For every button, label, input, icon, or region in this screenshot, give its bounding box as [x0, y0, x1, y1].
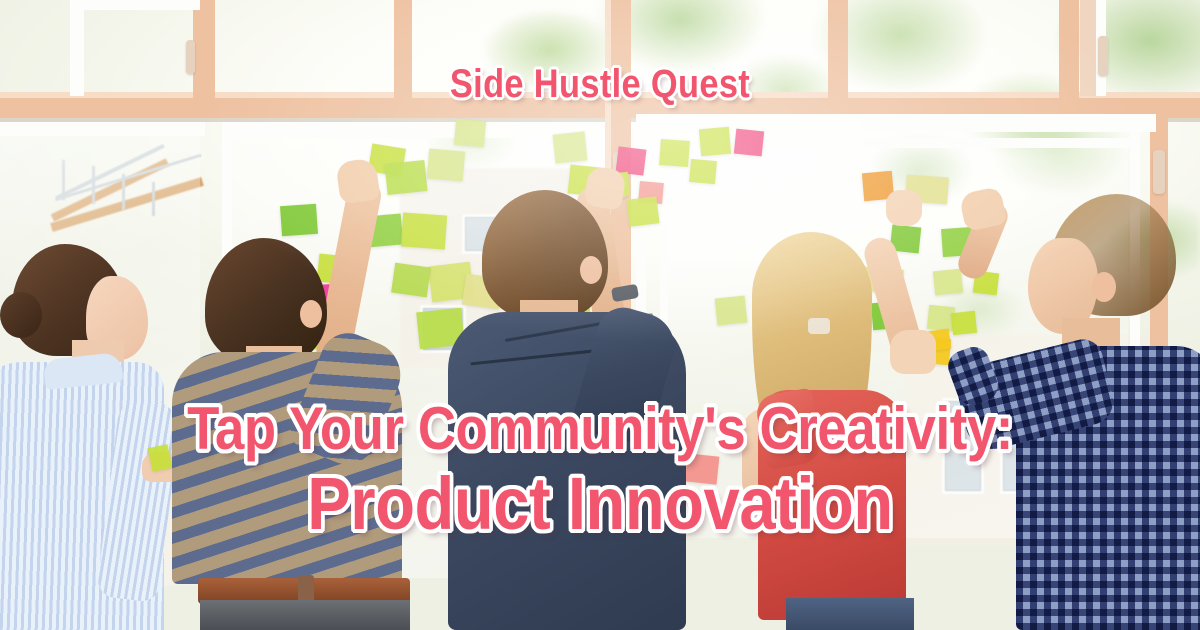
hair-bun [0, 292, 42, 338]
window-sash-left [0, 122, 205, 136]
ear [1092, 272, 1116, 302]
window-casement-open-top [70, 0, 200, 10]
sticky-note [699, 127, 731, 157]
headline: Tap Your Community's Creativity: Product… [0, 398, 1200, 544]
sticky-note [626, 196, 659, 226]
brand-title: Side Hustle Quest [84, 62, 1116, 106]
hand-upper [886, 190, 922, 226]
sticky-note [454, 119, 486, 148]
sticky-note [734, 129, 764, 157]
jeans [786, 598, 914, 630]
sticky-note [553, 131, 588, 163]
sticky-note [659, 139, 690, 167]
sticky-note [689, 159, 717, 184]
window-sash-center [222, 122, 604, 138]
headline-line-1: Tap Your Community's Creativity: [72, 398, 1128, 460]
window-sash-right-top2 [660, 138, 1140, 148]
headline-line-2: Product Innovation [72, 464, 1128, 544]
window-handle[interactable] [1153, 150, 1165, 194]
og-image-canvas: Side Hustle Quest Tap Your Community's C… [0, 0, 1200, 630]
ear [300, 300, 322, 328]
sticky-note [951, 311, 977, 335]
sticky-note [391, 263, 431, 298]
jeans [200, 600, 410, 630]
sticky-note [715, 296, 748, 326]
hand-raised [890, 330, 936, 374]
sticky-note [933, 269, 963, 296]
sticky-note [401, 213, 447, 250]
sticky-note [384, 160, 427, 195]
sticky-note [427, 148, 465, 181]
sticky-note [280, 204, 318, 236]
hair-clip [808, 318, 830, 334]
window-casement-open [70, 0, 84, 96]
sticky-note [616, 146, 647, 175]
ear [580, 256, 602, 284]
